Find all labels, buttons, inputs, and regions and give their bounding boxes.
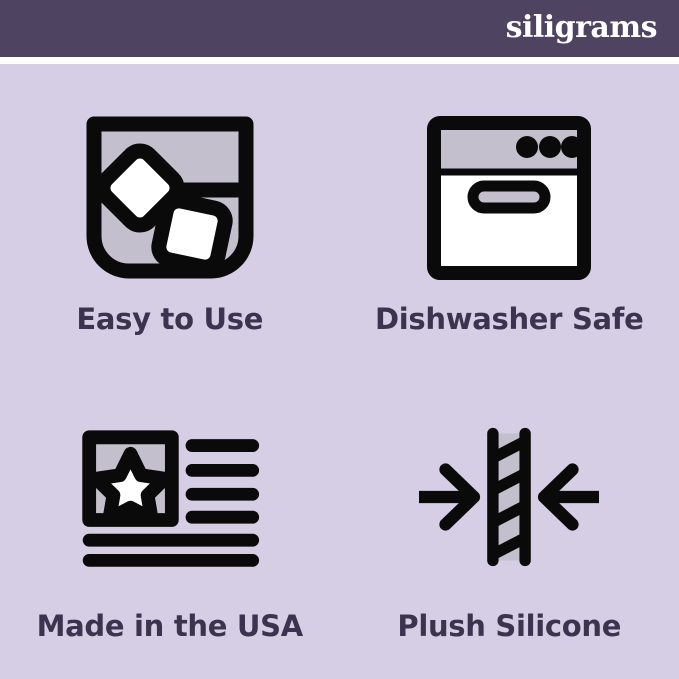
feature-item-plush-silicone: Plush Silicone: [340, 372, 679, 679]
feature-grid: Easy to Use: [0, 64, 679, 679]
feature-label-dishwasher-safe: Dishwasher Safe: [375, 302, 644, 336]
feature-label-made-in-the-usa: Made in the USA: [37, 609, 303, 643]
brand-header-bar: siligrams: [0, 0, 679, 57]
product-feature-infographic: siligrams: [0, 0, 679, 679]
glass-with-ice-cubes-icon: [80, 108, 260, 288]
feature-item-dishwasher-safe: Dishwasher Safe: [340, 64, 679, 372]
brand-logo-text: siligrams: [506, 13, 657, 45]
feature-label-easy-to-use: Easy to Use: [76, 302, 263, 336]
compression-arrows-icon: [419, 407, 599, 587]
header-divider: [0, 57, 679, 64]
feature-item-made-in-the-usa: Made in the USA: [0, 372, 340, 679]
dishwasher-icon: [419, 108, 599, 288]
usa-flag-icon: [80, 407, 260, 587]
feature-item-easy-to-use: Easy to Use: [0, 64, 340, 372]
feature-label-plush-silicone: Plush Silicone: [397, 609, 621, 643]
